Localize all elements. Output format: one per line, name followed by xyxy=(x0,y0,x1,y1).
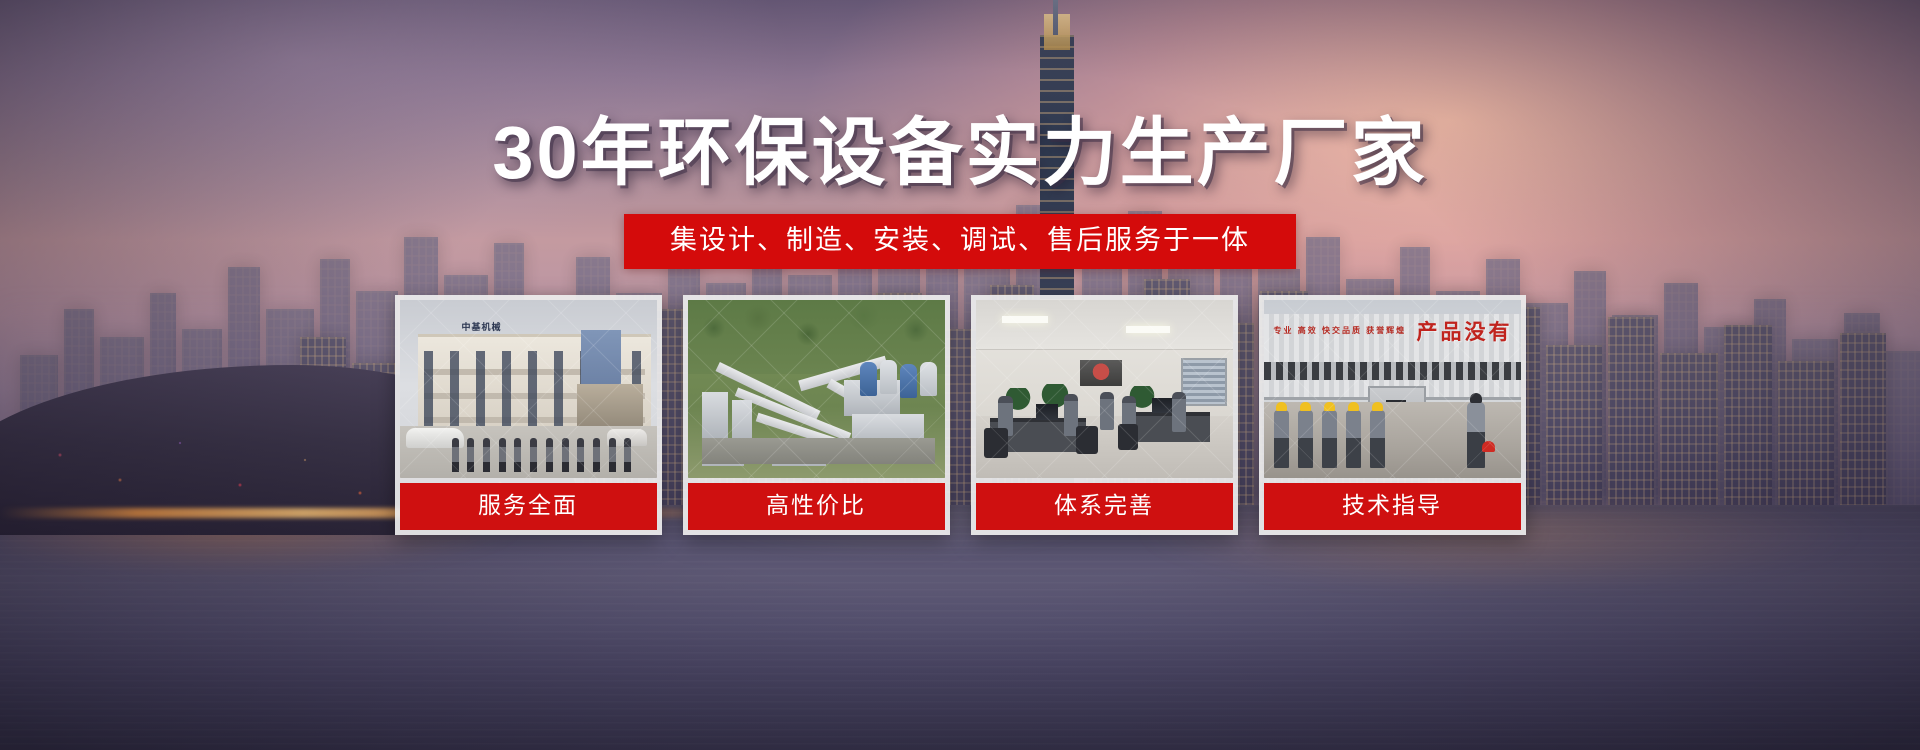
feature-card[interactable]: 高性价比 xyxy=(683,295,950,535)
watermark-overlay xyxy=(1264,300,1521,478)
feature-card[interactable]: 体系完善 xyxy=(971,295,1238,535)
card-photo-plant-aerial xyxy=(688,300,945,478)
watermark-overlay xyxy=(688,300,945,478)
card-photo-office-building: 中基机械 xyxy=(400,300,657,478)
feature-card-list: 中基机械 服务全面 xyxy=(395,295,1526,535)
card-caption: 服务全面 xyxy=(400,483,657,530)
page-title: 30年环保设备实力生产厂家 xyxy=(492,116,1427,190)
hero-banner: 30年环保设备实力生产厂家 集设计、制造、安装、调试、售后服务于一体 中基机械 xyxy=(0,0,1920,750)
feature-card[interactable]: 产品没有 专业 高效 快交品质 获誉辉煌 技术指导 xyxy=(1259,295,1526,535)
watermark-overlay xyxy=(976,300,1233,478)
banner-content: 30年环保设备实力生产厂家 集设计、制造、安装、调试、售后服务于一体 中基机械 xyxy=(0,0,1920,750)
subtitle-banner: 集设计、制造、安装、调试、售后服务于一体 xyxy=(624,214,1296,269)
card-caption: 高性价比 xyxy=(688,483,945,530)
card-photo-factory-workers: 产品没有 专业 高效 快交品质 获誉辉煌 xyxy=(1264,300,1521,478)
card-caption: 体系完善 xyxy=(976,483,1233,530)
card-photo-office-interior xyxy=(976,300,1233,478)
watermark-overlay xyxy=(400,300,657,478)
feature-card[interactable]: 中基机械 服务全面 xyxy=(395,295,662,535)
card-caption: 技术指导 xyxy=(1264,483,1521,530)
